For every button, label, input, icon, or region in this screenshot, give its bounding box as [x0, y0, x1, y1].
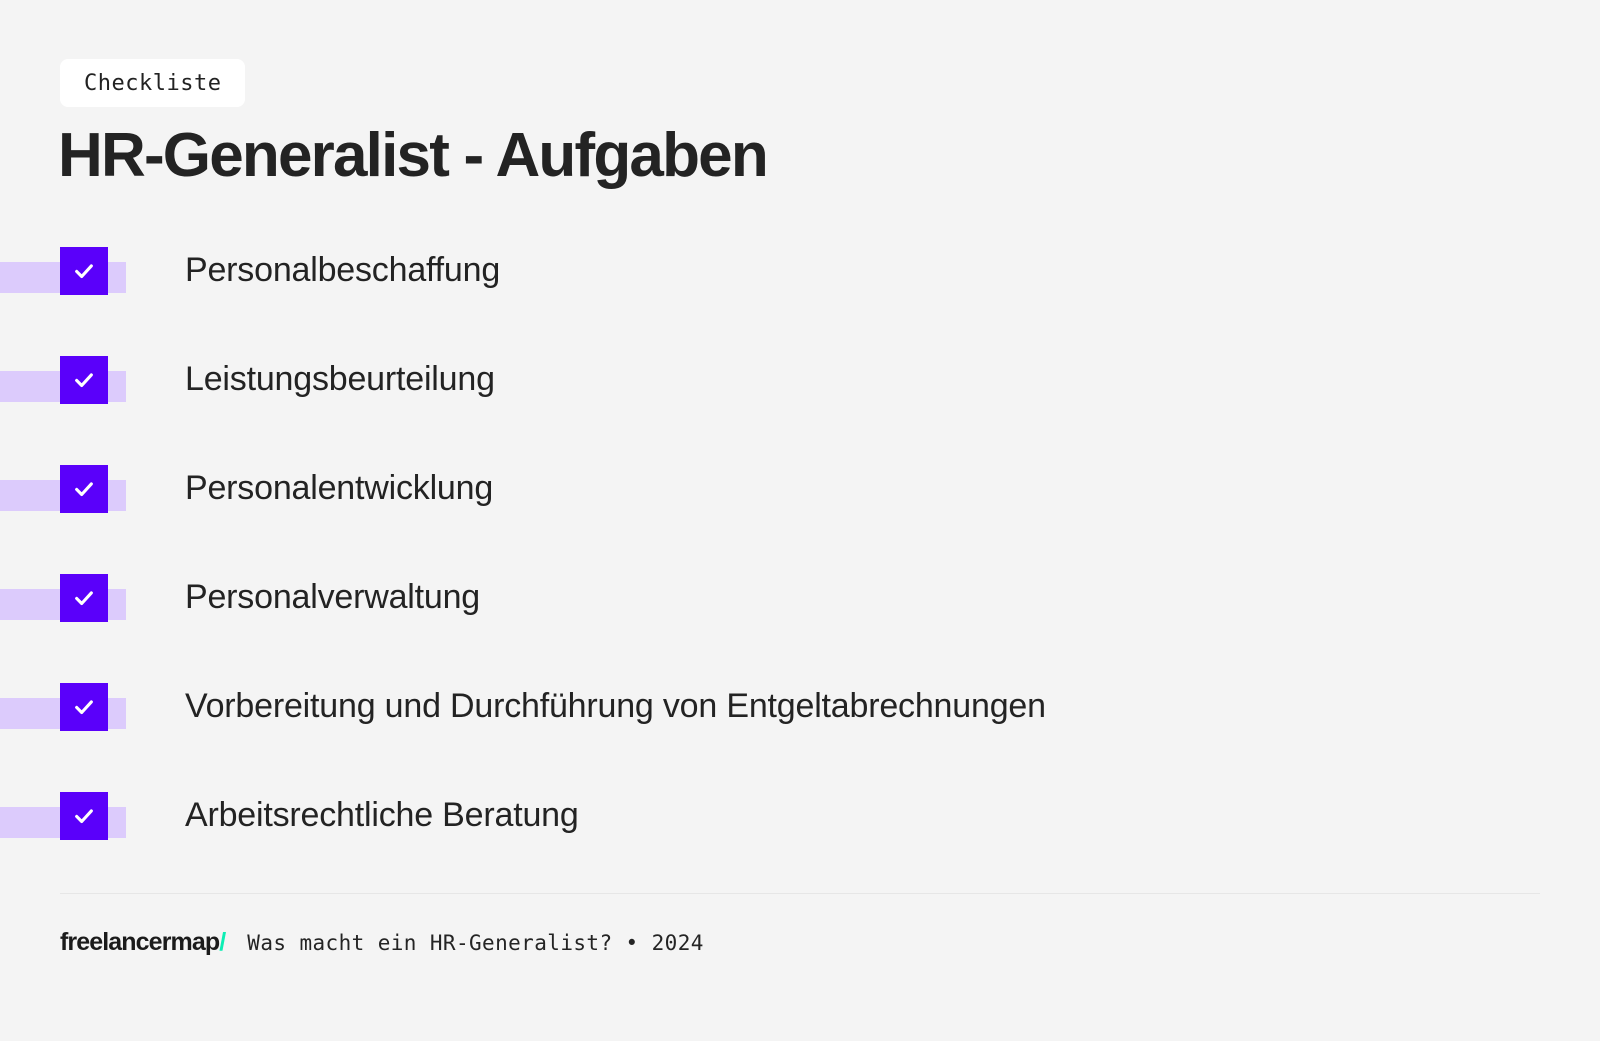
- list-item-label: Arbeitsrechtliche Beratung: [185, 782, 579, 848]
- checkbox-checked[interactable]: [60, 792, 108, 840]
- list-item-label: Personalentwicklung: [185, 455, 493, 521]
- checklist: Personalbeschaffung Leistungsbeurteilung: [0, 237, 1600, 891]
- list-item[interactable]: Leistungsbeurteilung: [0, 346, 1600, 455]
- list-item-label: Personalbeschaffung: [185, 237, 500, 303]
- check-icon: [73, 805, 95, 827]
- freelancermap-logo[interactable]: freelancermap/: [60, 928, 225, 957]
- page-title: HR-Generalist - Aufgaben: [58, 117, 767, 195]
- checkbox-checked[interactable]: [60, 465, 108, 513]
- list-item-label: Personalverwaltung: [185, 564, 480, 630]
- list-item-label: Leistungsbeurteilung: [185, 346, 495, 412]
- check-icon: [73, 478, 95, 500]
- check-icon: [73, 696, 95, 718]
- list-item[interactable]: Personalverwaltung: [0, 564, 1600, 673]
- checkbox-checked[interactable]: [60, 683, 108, 731]
- list-item[interactable]: Vorbereitung und Durchführung von Entgel…: [0, 673, 1600, 782]
- footer-divider: [60, 893, 1540, 894]
- footer: freelancermap/ Was macht ein HR-Generali…: [60, 928, 704, 957]
- logo-slash-icon: /: [219, 928, 225, 956]
- checklist-infographic: Checkliste HR-Generalist - Aufgaben Pers…: [0, 0, 1600, 1041]
- logo-wordmark: freelancermap: [60, 928, 219, 956]
- check-icon: [73, 369, 95, 391]
- checkbox-checked[interactable]: [60, 247, 108, 295]
- list-item-label: Vorbereitung und Durchführung von Entgel…: [185, 673, 1046, 739]
- check-icon: [73, 260, 95, 282]
- footer-caption: Was macht ein HR-Generalist? • 2024: [247, 931, 704, 955]
- list-item[interactable]: Personalentwicklung: [0, 455, 1600, 564]
- checkbox-checked[interactable]: [60, 356, 108, 404]
- category-badge: Checkliste: [60, 59, 245, 107]
- check-icon: [73, 587, 95, 609]
- checkbox-checked[interactable]: [60, 574, 108, 622]
- list-item[interactable]: Personalbeschaffung: [0, 237, 1600, 346]
- list-item[interactable]: Arbeitsrechtliche Beratung: [0, 782, 1600, 891]
